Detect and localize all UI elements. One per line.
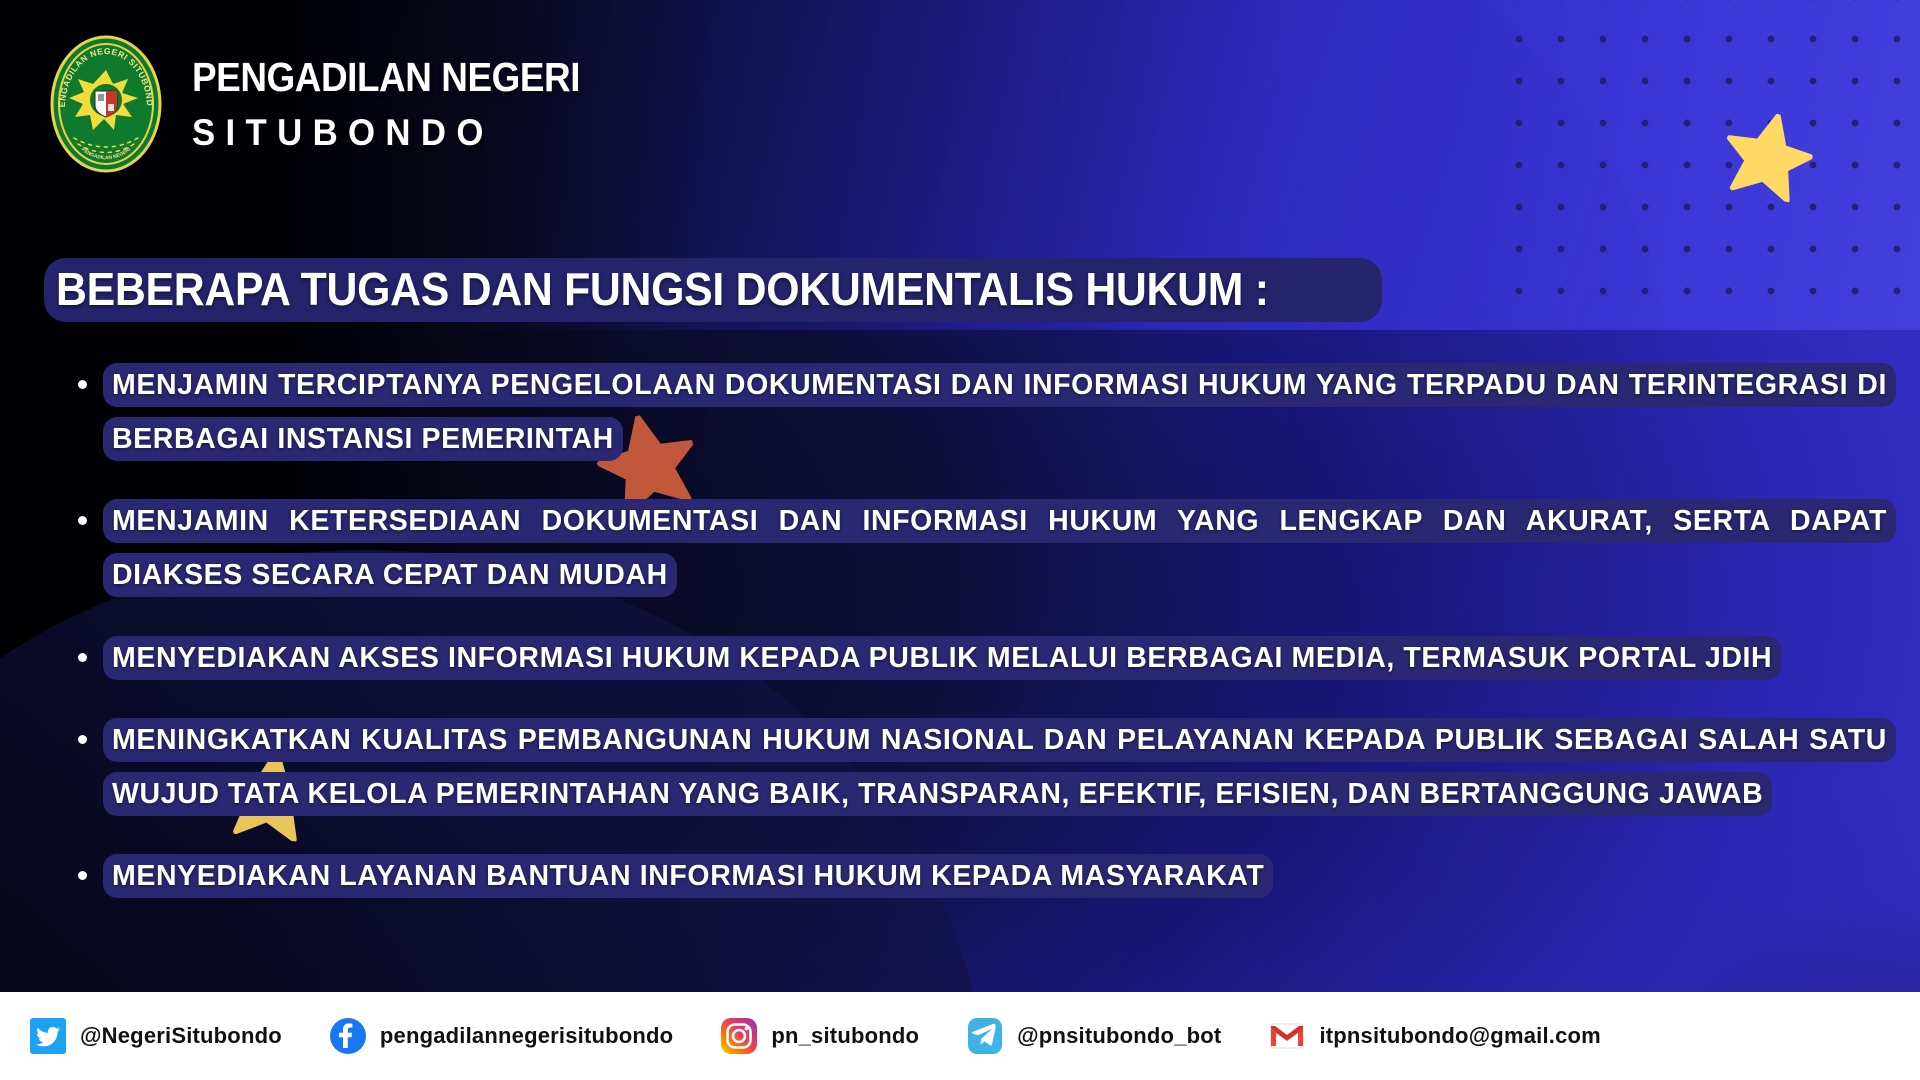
presentation-slide: PENGADILAN NEGERI SITUBONDO PENGADILAN N… (0, 0, 1920, 1080)
list-item-text: MENYEDIAKAN AKSES INFORMASI HUKUM KEPADA… (103, 636, 1781, 680)
org-name-line2: SITUBONDO (192, 114, 597, 151)
list-item-text-wrapper: MENINGKATKAN KUALITAS PEMBANGUNAN HUKUM … (103, 713, 1896, 821)
telegram-icon (965, 1016, 1005, 1056)
bullet-dot-icon (78, 735, 87, 744)
social-facebook[interactable]: pengadilannegerisitubondo (328, 1016, 673, 1056)
social-telegram-handle: @pnsitubondo_bot (1017, 1023, 1221, 1049)
social-facebook-handle: pengadilannegerisitubondo (380, 1023, 673, 1049)
bullet-dot-icon (78, 653, 87, 662)
list-item-text: MENINGKATKAN KUALITAS PEMBANGUNAN HUKUM … (103, 718, 1896, 816)
slide-title: BEBERAPA TUGAS DAN FUNGSI DOKUMENTALIS H… (56, 265, 1269, 313)
dot-grid-pattern (1490, 0, 1920, 300)
list-item-text: MENJAMIN TERCIPTANYA PENGELOLAAN DOKUMEN… (103, 363, 1896, 461)
slide-title-highlight: BEBERAPA TUGAS DAN FUNGSI DOKUMENTALIS H… (44, 258, 1382, 322)
list-item-text-wrapper: MENJAMIN KETERSEDIAAN DOKUMENTASI DAN IN… (103, 494, 1896, 602)
bullet-dot-icon (78, 516, 87, 525)
gmail-icon (1267, 1016, 1307, 1056)
facebook-icon (328, 1016, 368, 1056)
list-item-text-wrapper: MENYEDIAKAN LAYANAN BANTUAN INFORMASI HU… (103, 849, 1896, 903)
list-item: MENYEDIAKAN LAYANAN BANTUAN INFORMASI HU… (78, 849, 1896, 903)
list-item: MENYEDIAKAN AKSES INFORMASI HUKUM KEPADA… (78, 631, 1896, 685)
star-icon-yellow-top (1716, 105, 1820, 205)
list-item: MENJAMIN KETERSEDIAAN DOKUMENTASI DAN IN… (78, 494, 1896, 602)
social-twitter[interactable]: @NegeriSitubondo (28, 1016, 282, 1056)
organization-name: PENGADILAN NEGERI SITUBONDO (192, 57, 623, 151)
list-item: MENJAMIN TERCIPTANYA PENGELOLAAN DOKUMEN… (78, 358, 1896, 466)
bullet-dot-icon (78, 871, 87, 880)
list-item-text-wrapper: MENJAMIN TERCIPTANYA PENGELOLAAN DOKUMEN… (103, 358, 1896, 466)
twitter-icon (28, 1016, 68, 1056)
social-email-address: itpnsitubondo@gmail.com (1319, 1023, 1600, 1049)
social-instagram-handle: pn_situbondo (771, 1023, 919, 1049)
list-item-text: MENJAMIN KETERSEDIAAN DOKUMENTASI DAN IN… (103, 499, 1896, 597)
bullet-dot-icon (78, 380, 87, 389)
task-function-list: MENJAMIN TERCIPTANYA PENGELOLAAN DOKUMEN… (78, 358, 1896, 931)
slide-title-container: BEBERAPA TUGAS DAN FUNGSI DOKUMENTALIS H… (44, 258, 1382, 322)
list-item: MENINGKATKAN KUALITAS PEMBANGUNAN HUKUM … (78, 713, 1896, 821)
social-instagram[interactable]: pn_situbondo (719, 1016, 919, 1056)
list-item-text-wrapper: MENYEDIAKAN AKSES INFORMASI HUKUM KEPADA… (103, 631, 1896, 685)
list-item-text: MENYEDIAKAN LAYANAN BANTUAN INFORMASI HU… (103, 854, 1273, 898)
social-email[interactable]: itpnsitubondo@gmail.com (1267, 1016, 1600, 1056)
org-name-line1: PENGADILAN NEGERI (192, 57, 580, 98)
pengadilan-negeri-situbondo-seal-icon: PENGADILAN NEGERI SITUBONDO PENGADILAN N… (46, 34, 166, 174)
social-twitter-handle: @NegeriSitubondo (80, 1023, 282, 1049)
social-telegram[interactable]: @pnsitubondo_bot (965, 1016, 1221, 1056)
instagram-icon (719, 1016, 759, 1056)
slide-header: PENGADILAN NEGERI SITUBONDO PENGADILAN N… (46, 34, 623, 174)
social-media-footer: @NegeriSitubondo pengadilannegerisitubon… (0, 992, 1920, 1080)
